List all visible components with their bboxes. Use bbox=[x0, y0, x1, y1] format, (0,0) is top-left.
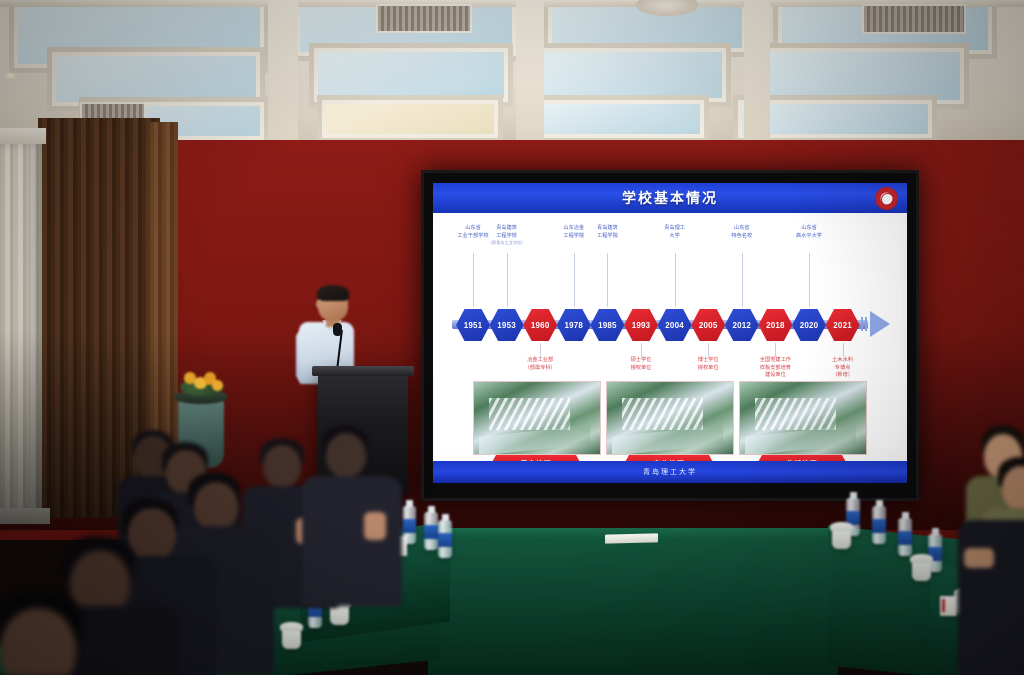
conference-room-photo: 学校基本情况 1951山东省工业干部学校1953青岛建筑工程学校（原青岛工业学校… bbox=[0, 0, 1024, 675]
presentation-screen: 学校基本情况 1951山东省工业干部学校1953青岛建筑工程学校（原青岛工业学校… bbox=[421, 170, 919, 501]
slide: 学校基本情况 1951山东省工业干部学校1953青岛建筑工程学校（原青岛工业学校… bbox=[433, 183, 907, 483]
timeline-label-above: 山东省高水平大学 bbox=[778, 225, 840, 240]
timeline-milestone: 1953 bbox=[490, 308, 524, 342]
timeline-milestone: 2020 bbox=[792, 308, 826, 342]
water-bottle bbox=[898, 518, 912, 556]
lidded-tea-cup bbox=[282, 628, 301, 649]
timeline-label-above: 山东省特色名校 bbox=[711, 225, 773, 240]
water-bottle bbox=[872, 506, 886, 544]
timeline-label-above: 青岛理工大学 bbox=[644, 225, 706, 240]
timeline-label-below: 土木水利专博点（新增） bbox=[812, 357, 874, 380]
timeline-year-hex: 1951 bbox=[456, 308, 490, 342]
slide-footer-text: 青岛理工大学 bbox=[643, 467, 697, 477]
timeline-leader-line bbox=[742, 253, 743, 307]
timeline-year-hex: 2004 bbox=[658, 308, 692, 342]
timeline-leader-line bbox=[607, 253, 608, 307]
timeline-milestone: 1985 bbox=[590, 308, 624, 342]
lectern-top bbox=[312, 366, 414, 376]
center-table bbox=[428, 530, 838, 675]
campus-aerial-photo bbox=[739, 381, 867, 455]
timeline-milestone: 2004 bbox=[658, 308, 692, 342]
campus-card: 临沂校区 bbox=[739, 381, 865, 473]
timeline-year-hex: 1953 bbox=[490, 308, 524, 342]
slide-footer: 青岛理工大学 bbox=[433, 461, 907, 483]
campus-aerial-photo bbox=[473, 381, 601, 455]
timeline-leader-line bbox=[574, 253, 575, 307]
timeline-leader-line bbox=[473, 253, 474, 307]
timeline-year-hex: 2018 bbox=[758, 308, 792, 342]
timeline-leader-line bbox=[809, 253, 810, 307]
speaker-hair bbox=[317, 285, 349, 301]
timeline-milestone: 2005 bbox=[691, 308, 725, 342]
timeline-leader-line bbox=[641, 343, 642, 357]
timeline-leader-line bbox=[540, 343, 541, 357]
timeline-arrow-icon bbox=[870, 311, 890, 337]
microphone-head-icon bbox=[333, 323, 342, 336]
timeline-leader-line bbox=[843, 343, 844, 357]
timeline-year-hex: 1985 bbox=[590, 308, 624, 342]
timeline-year-hex: 2021 bbox=[826, 308, 860, 342]
ceiling-vent bbox=[862, 4, 966, 34]
document-on-table bbox=[605, 533, 658, 543]
place-name-card bbox=[940, 596, 957, 616]
timeline-milestone: 1993 bbox=[624, 308, 658, 342]
timeline-milestone: 2021 bbox=[826, 308, 860, 342]
timeline-label-below: 冶金工业部（部属专科） bbox=[509, 357, 571, 372]
timeline-year-hex: 1993 bbox=[624, 308, 658, 342]
timeline-year-hex: 1978 bbox=[557, 308, 591, 342]
water-bottle bbox=[424, 512, 438, 550]
campus-aerial-photo bbox=[606, 381, 734, 455]
campus-card: 黄岛校区 bbox=[473, 381, 599, 473]
timeline-year-hex: 2020 bbox=[792, 308, 826, 342]
speaker-ear bbox=[316, 300, 322, 308]
lidded-tea-cup bbox=[832, 528, 851, 549]
timeline-leader-line bbox=[675, 253, 676, 307]
timeline-label-below: 全国党建工作样板支部培育建设单位 bbox=[744, 357, 806, 380]
campus-card: 市北校区 bbox=[606, 381, 732, 473]
slide-title-text: 学校基本情况 bbox=[622, 188, 718, 208]
timeline-leader-line bbox=[507, 253, 508, 307]
timeline-year-hex: 2005 bbox=[691, 308, 725, 342]
timeline-milestone: 2012 bbox=[725, 308, 759, 342]
timeline-milestone: 1960 bbox=[523, 308, 557, 342]
lidded-tea-cup bbox=[912, 560, 931, 581]
ceiling-vent bbox=[376, 4, 472, 33]
water-bottle bbox=[438, 520, 452, 558]
ceiling-downlight bbox=[5, 72, 16, 79]
timeline-leader-line bbox=[708, 343, 709, 357]
timeline-year-hex: 2012 bbox=[725, 308, 759, 342]
timeline-leader-line bbox=[775, 343, 776, 357]
timeline-label-below: 硕士学位授权单位 bbox=[610, 357, 672, 372]
timeline-label-below: 博士学位授权单位 bbox=[677, 357, 739, 372]
column-capital bbox=[0, 128, 46, 144]
timeline-milestone: 1978 bbox=[557, 308, 591, 342]
timeline-label-above: 青岛建筑工程学校（原青岛工业学校） bbox=[476, 225, 538, 246]
timeline-ticks bbox=[861, 317, 869, 331]
university-seal-icon bbox=[875, 187, 898, 210]
timeline-milestone: 1951 bbox=[456, 308, 490, 342]
slide-title-bar: 学校基本情况 bbox=[433, 183, 907, 213]
timeline-milestone: 2018 bbox=[758, 308, 792, 342]
timeline-label-above: 青岛建筑工程学院 bbox=[576, 225, 638, 240]
timeline-year-hex: 1960 bbox=[523, 308, 557, 342]
